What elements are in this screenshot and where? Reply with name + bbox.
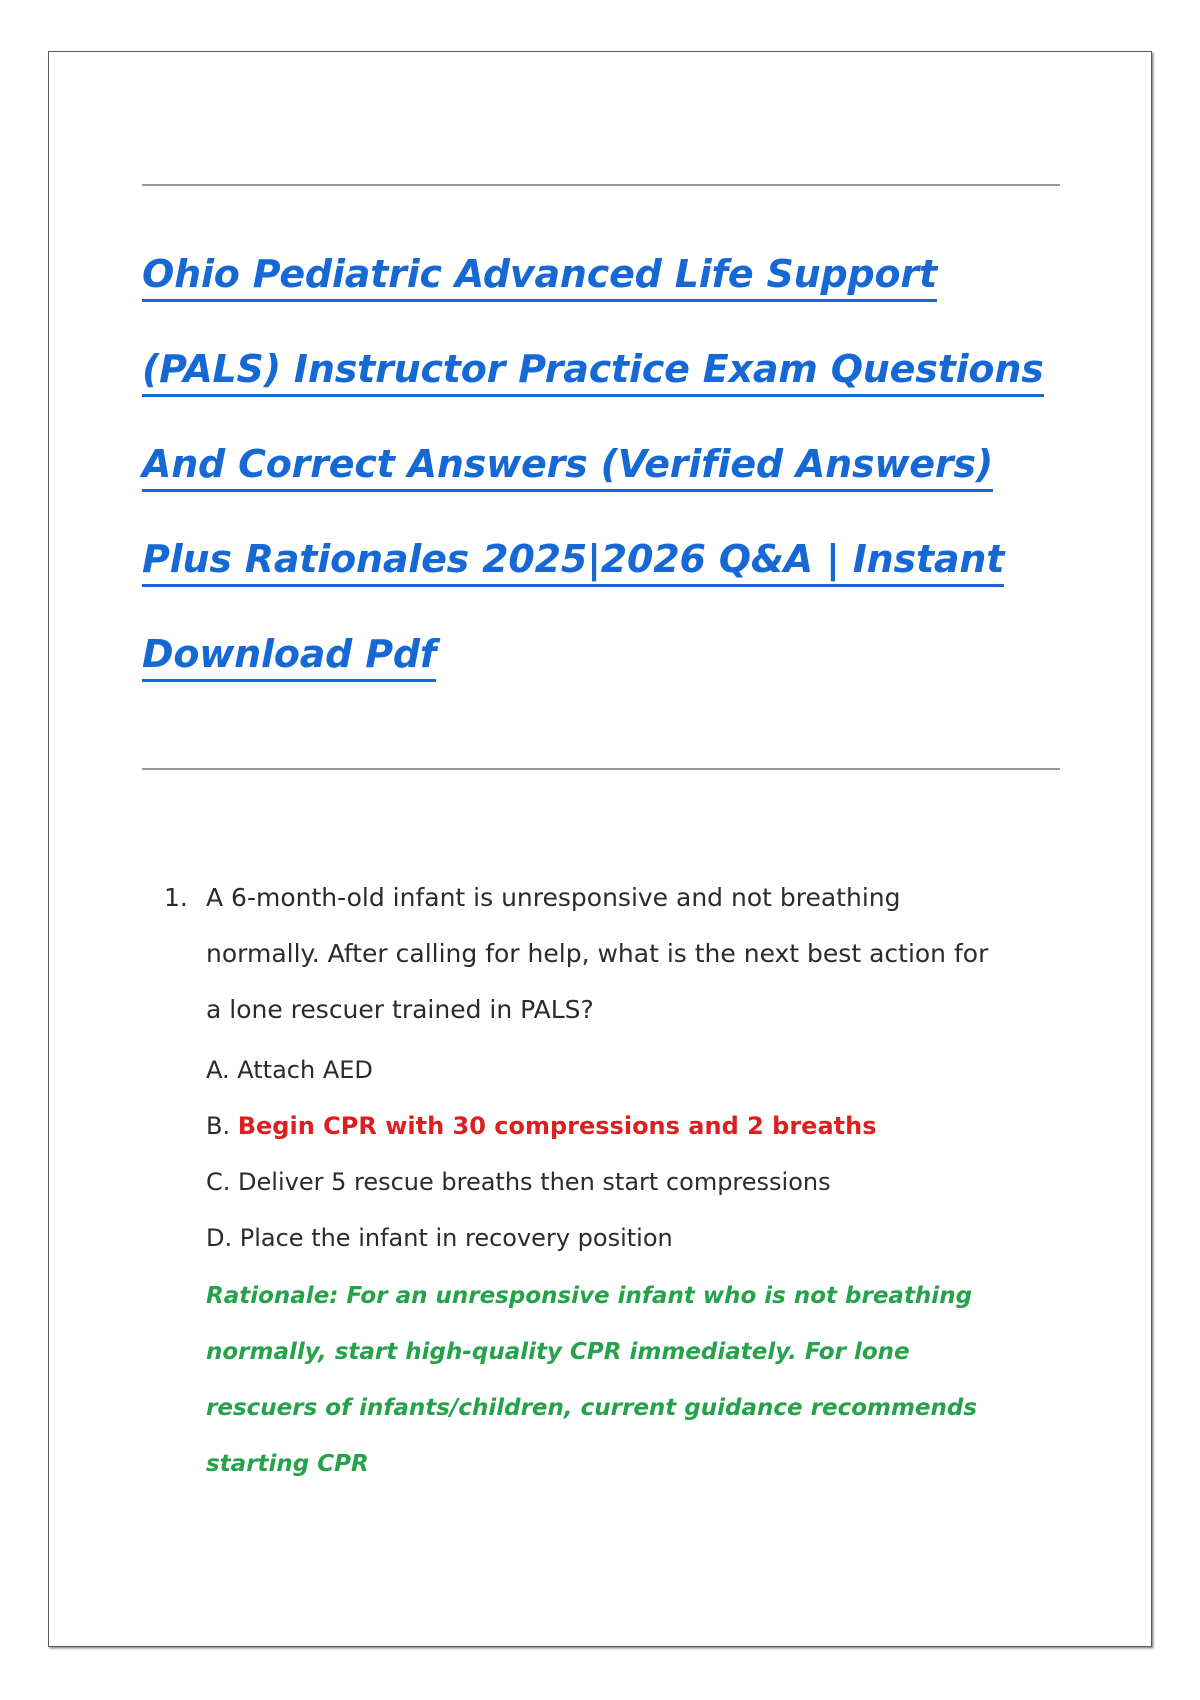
answer-option-d[interactable]: D. Place the infant in recovery position — [206, 1210, 1060, 1266]
title-line-2: (PALS) Instructor Practice Exam Question… — [142, 322, 1060, 417]
title-line-5-text: Download Pdf — [142, 632, 436, 682]
document-page: Ohio Pediatric Advanced Life Support (PA… — [48, 51, 1152, 1647]
answer-options: A. Attach AED B. Begin CPR with 30 compr… — [206, 1042, 1060, 1266]
question-stem: A 6-month-old infant is unresponsive and… — [206, 870, 996, 1038]
question-item: 1. A 6-month-old infant is unresponsive … — [142, 870, 1060, 1492]
option-a-text: Attach AED — [237, 1056, 373, 1084]
answer-option-b[interactable]: B. Begin CPR with 30 compressions and 2 … — [206, 1098, 1060, 1154]
answer-option-c[interactable]: C. Deliver 5 rescue breaths then start c… — [206, 1154, 1060, 1210]
option-c-letter: C. — [206, 1168, 230, 1196]
title-line-4-text: Plus Rationales 2025|2026 Q&A | Instant — [142, 537, 1004, 587]
header-divider-top — [142, 184, 1060, 186]
title-line-2-text: (PALS) Instructor Practice Exam Question… — [142, 347, 1044, 397]
option-c-text: Deliver 5 rescue breaths then start comp… — [238, 1168, 831, 1196]
option-b-letter: B. — [206, 1112, 230, 1140]
document-title: Ohio Pediatric Advanced Life Support (PA… — [142, 227, 1060, 702]
title-line-4: Plus Rationales 2025|2026 Q&A | Instant — [142, 512, 1060, 607]
title-line-3-text: And Correct Answers (Verified Answers) — [142, 442, 993, 492]
option-d-letter: D. — [206, 1224, 232, 1252]
title-line-1-text: Ohio Pediatric Advanced Life Support — [142, 252, 937, 302]
title-line-3: And Correct Answers (Verified Answers) — [142, 417, 1060, 512]
option-d-text: Place the infant in recovery position — [240, 1224, 673, 1252]
answer-rationale: Rationale: For an unresponsive infant wh… — [206, 1268, 1006, 1492]
option-b-text: Begin CPR with 30 compressions and 2 bre… — [238, 1112, 877, 1140]
question-list: 1. A 6-month-old infant is unresponsive … — [142, 870, 1060, 1492]
title-line-5: Download Pdf — [142, 607, 1060, 702]
answer-option-a[interactable]: A. Attach AED — [206, 1042, 1060, 1098]
header-divider-bottom — [142, 768, 1060, 770]
question-number: 1. — [164, 870, 188, 926]
title-line-1: Ohio Pediatric Advanced Life Support — [142, 227, 1060, 322]
option-a-letter: A. — [206, 1056, 230, 1084]
